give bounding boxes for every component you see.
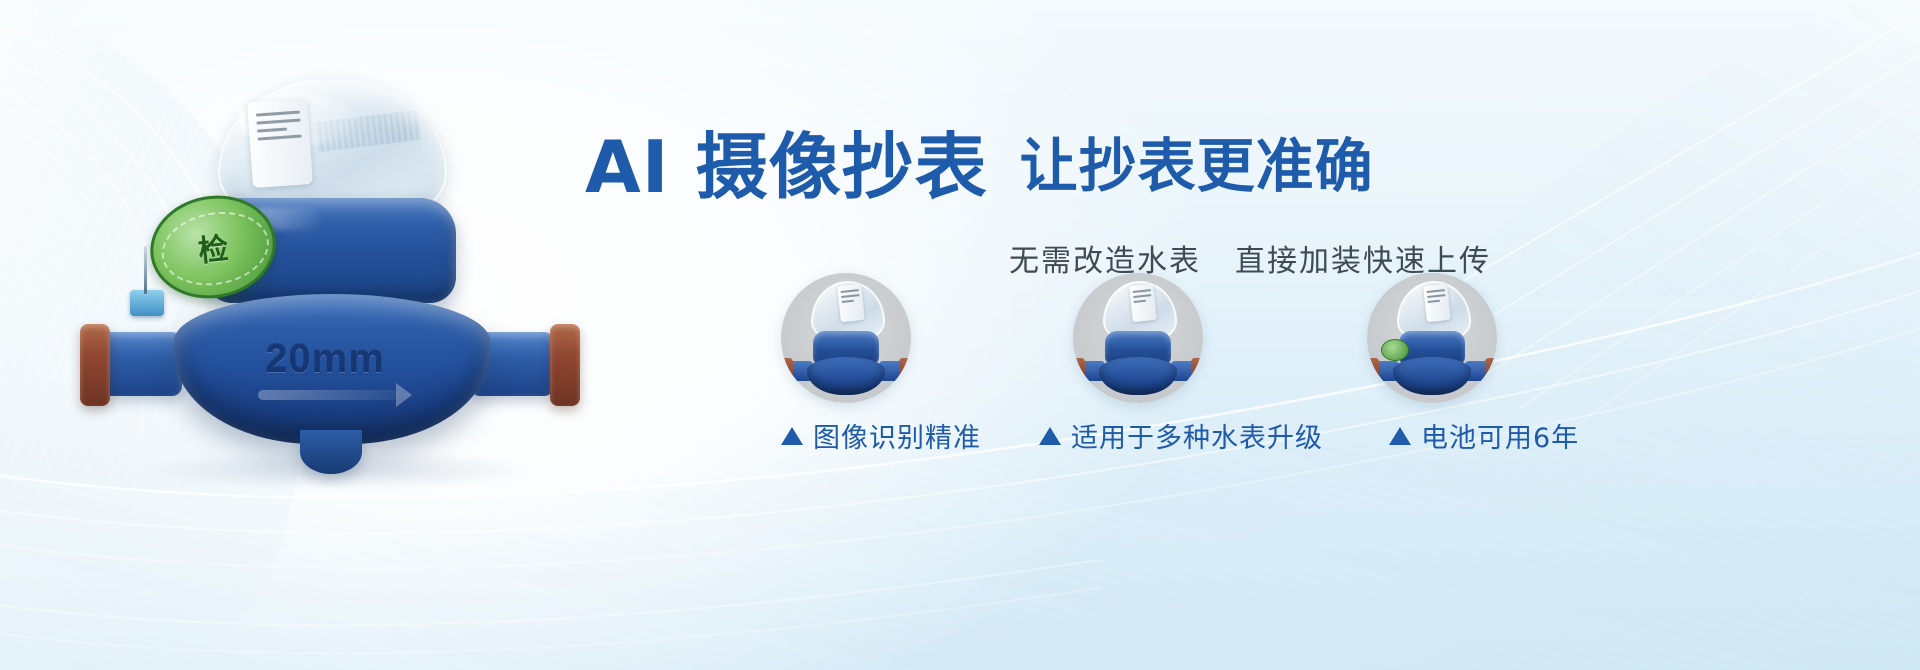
- triangle-marker-icon: [1389, 427, 1411, 445]
- meter-nut-left: [80, 324, 110, 406]
- triangle-marker-icon: [781, 427, 803, 445]
- feature-label-1: 图像识别精准: [813, 416, 981, 455]
- hero-product-image: 检 NSF 20mm: [78, 78, 598, 508]
- copy-block: AI 摄像抄表让抄表更准确 无需改造水表直接加装快速上传: [585, 0, 1885, 670]
- headline: AI 摄像抄表让抄表更准确: [585, 108, 1885, 213]
- thumbnail-image-1[interactable]: [781, 273, 911, 403]
- feature-list: 图像识别精准 适用于多种水表升级 电池可用6年: [781, 416, 1841, 460]
- meter-sensor-clip: [130, 290, 164, 316]
- meter-nut-right: [550, 324, 580, 406]
- hero-banner: 检 NSF 20mm AI 摄像抄表让抄表更准确 无需改造水表直接加装快速上传: [0, 0, 1920, 670]
- headline-primary: AI 摄像抄表: [585, 125, 988, 209]
- seal-label: 检: [196, 224, 230, 271]
- triangle-marker-icon: [1039, 427, 1061, 445]
- product-thumbnails: [781, 273, 1791, 403]
- feature-label-2: 适用于多种水表升级: [1071, 416, 1323, 455]
- feature-item-1: 图像识别精准: [781, 416, 981, 455]
- meter-body: 20mm: [174, 294, 490, 444]
- thumbnail-image-2[interactable]: [1073, 273, 1203, 403]
- feature-item-2: 适用于多种水表升级: [1039, 416, 1323, 455]
- flow-direction-arrow: [258, 390, 398, 400]
- headline-secondary: 让抄表更准确: [1020, 132, 1374, 200]
- meter-pipe-left: [98, 332, 182, 396]
- meter-bottom-cap: [300, 430, 362, 474]
- feature-item-3: 电池可用6年: [1389, 416, 1579, 455]
- feature-label-3: 电池可用6年: [1421, 416, 1579, 455]
- meter-size-marking: 20mm: [230, 336, 420, 382]
- thumbnail-image-3[interactable]: [1367, 273, 1497, 403]
- meter-camera-module: [247, 98, 313, 188]
